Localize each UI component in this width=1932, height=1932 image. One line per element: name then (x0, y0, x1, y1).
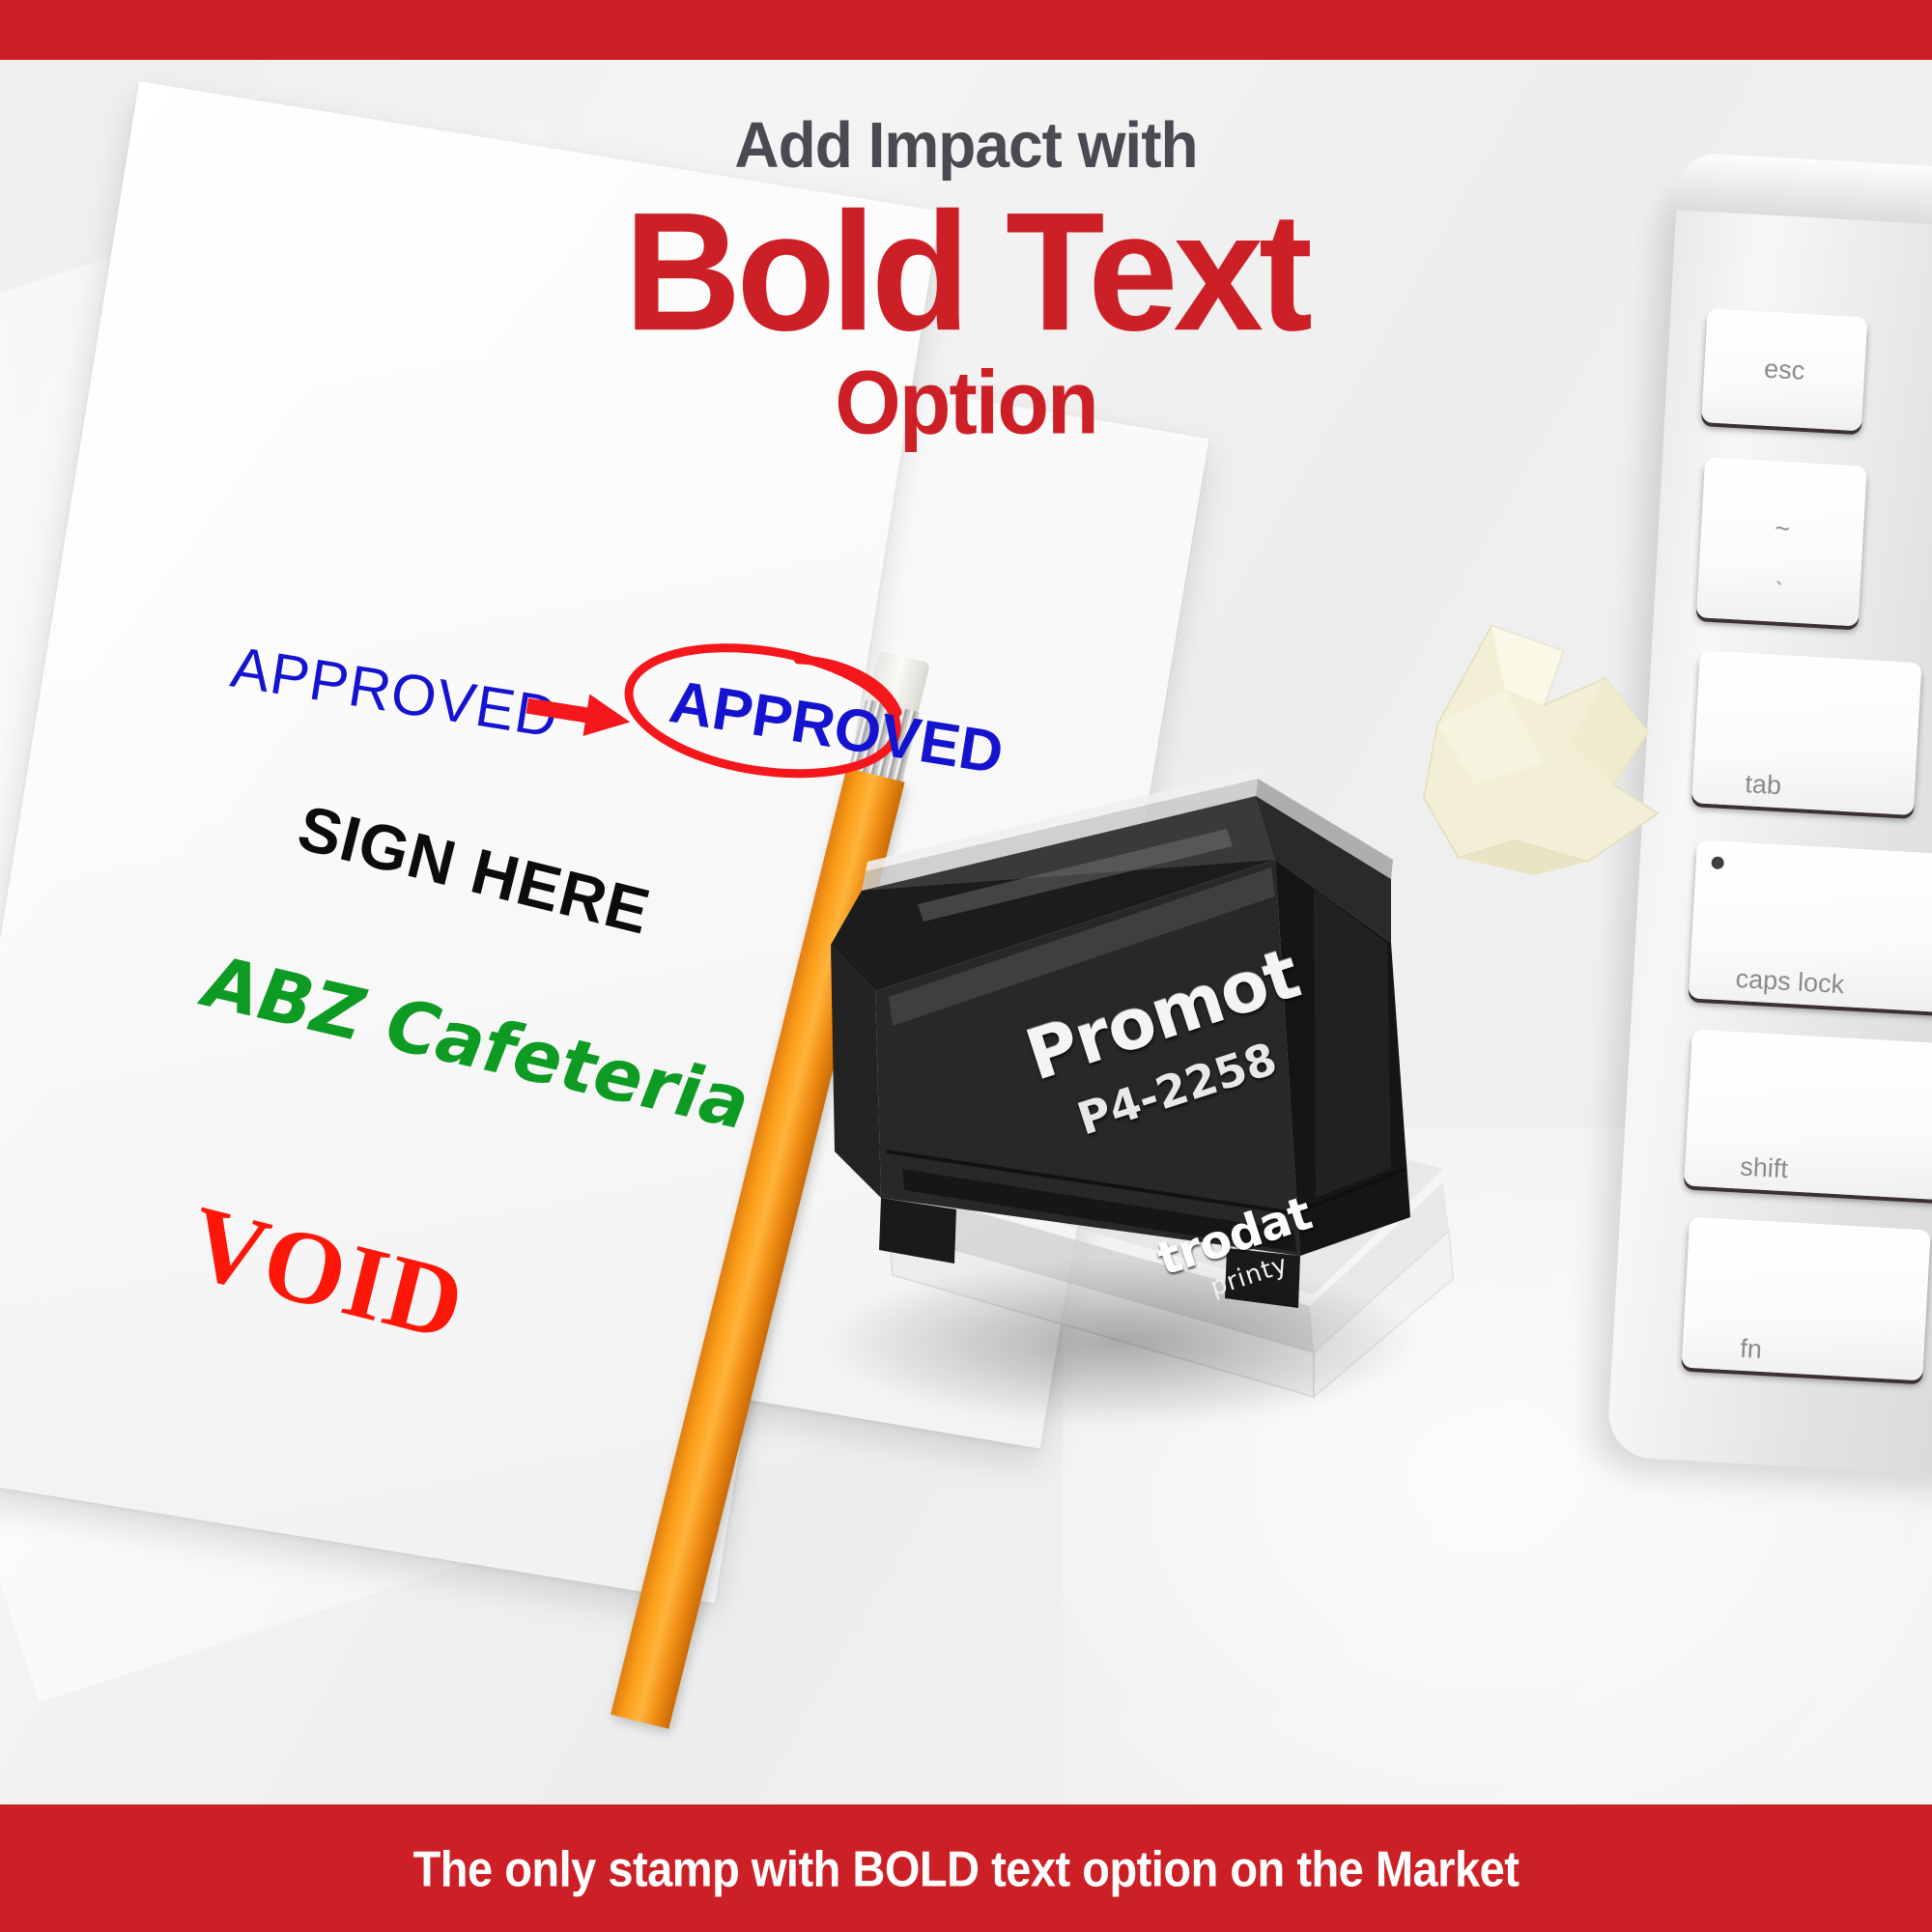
impression-abz-cafeteria: ABZ Cafeteria (190, 942, 763, 1146)
footer-tagline: The only stamp with BOLD text option on … (413, 1839, 1520, 1898)
impression-approved-regular: APPROVED (227, 634, 563, 752)
stamp-shadow (811, 1256, 1430, 1430)
promotional-banner: esc ~ ` tab caps lock shift fn (0, 0, 1932, 1932)
self-inking-stamp: Promot P4-2258 trodat printy (773, 715, 1507, 1449)
impression-sign-here: SIGN HERE (291, 790, 657, 949)
impression-void: VOID (178, 1182, 476, 1366)
bottom-red-banner: The only stamp with BOLD text option on … (0, 1804, 1932, 1932)
top-red-bar (0, 0, 1932, 60)
